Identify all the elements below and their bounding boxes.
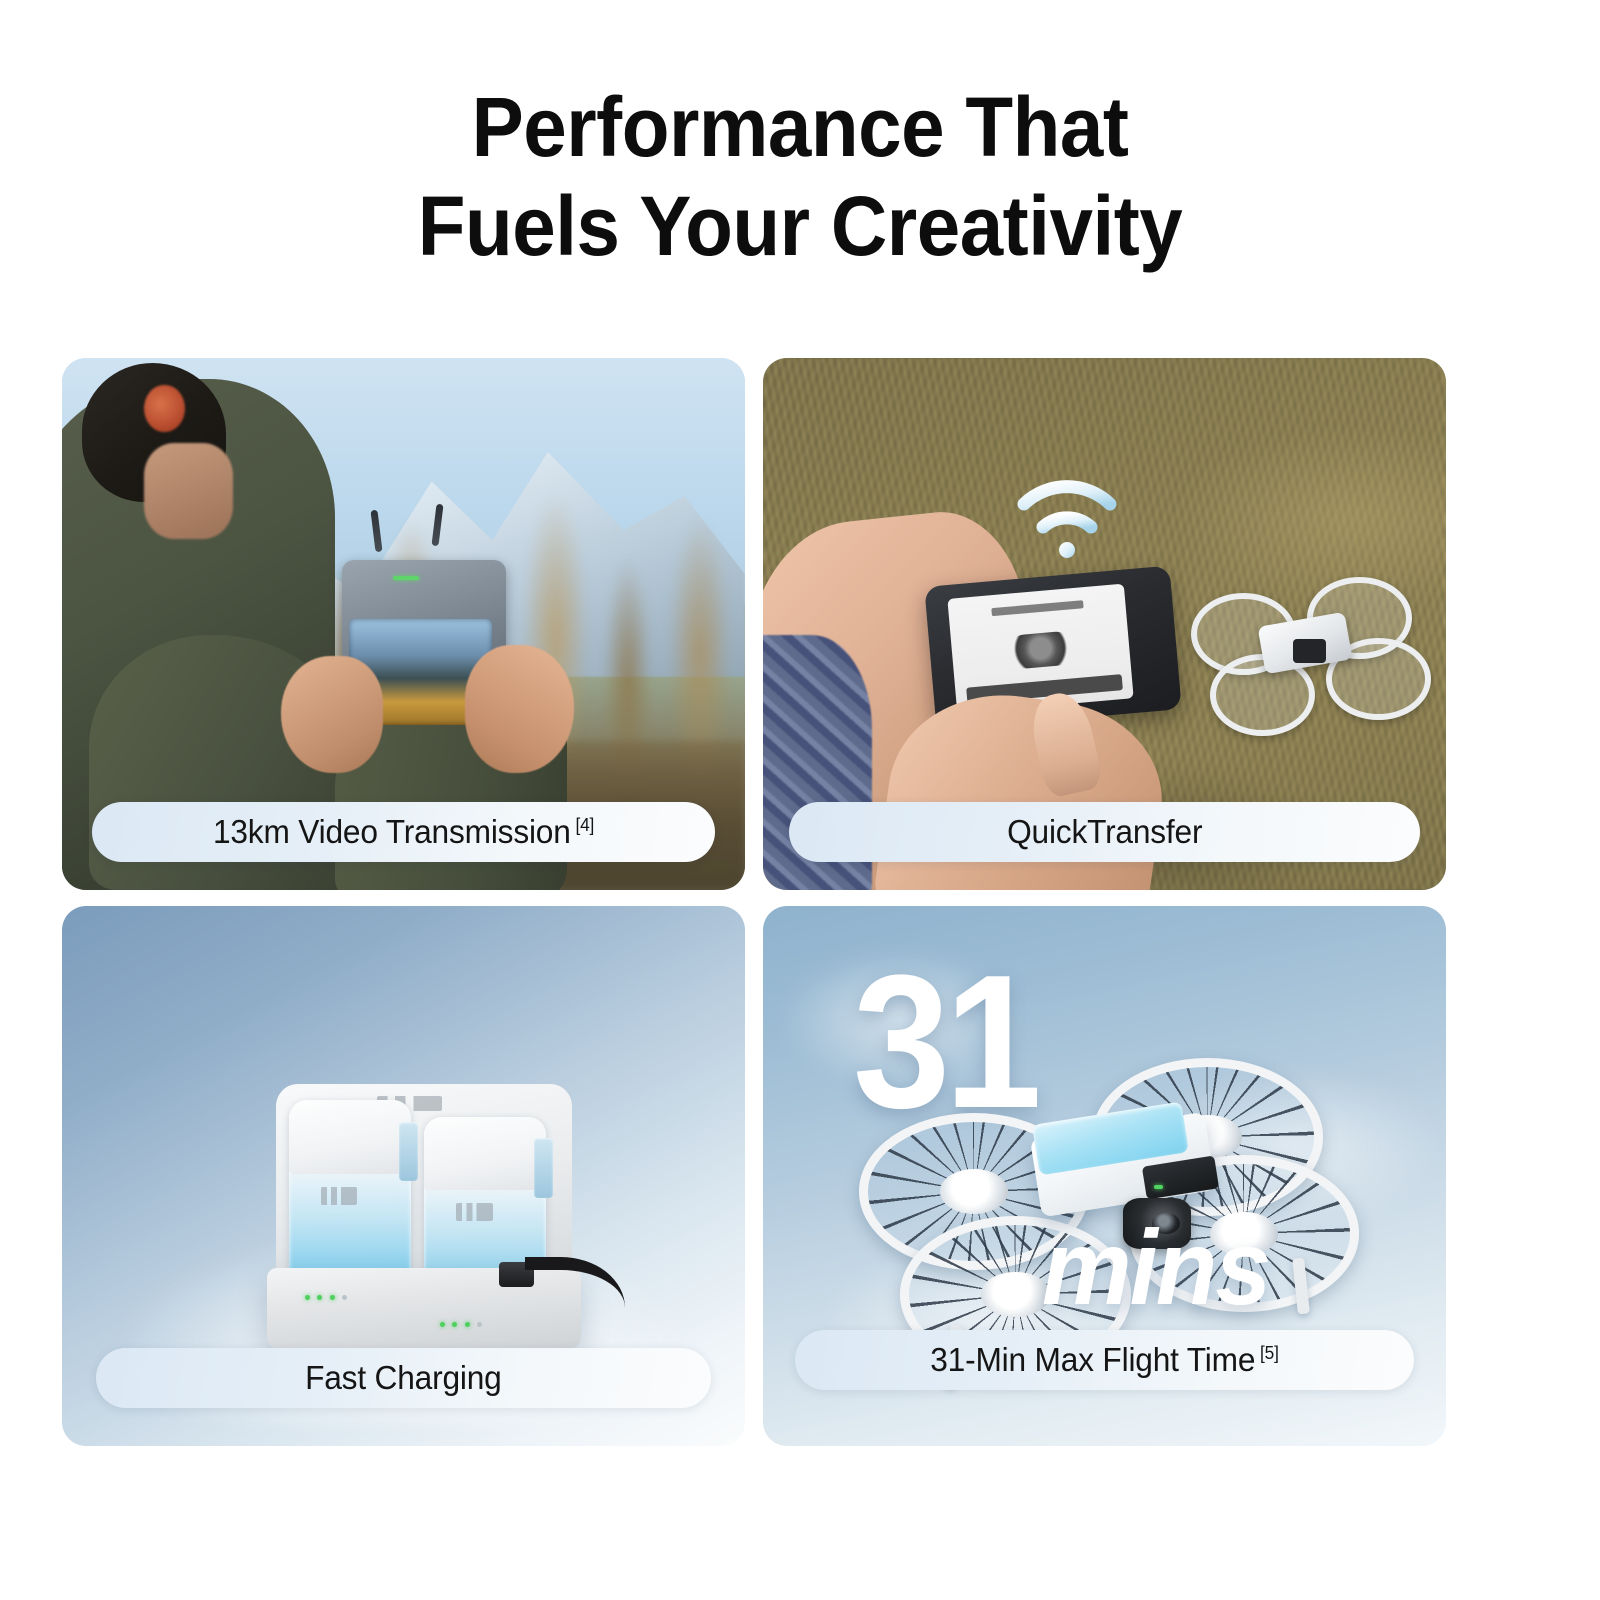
right-hand-icon bbox=[465, 645, 574, 773]
led-indicator-icon-1 bbox=[305, 1295, 310, 1300]
led-indicator-icon-3 bbox=[330, 1295, 335, 1300]
card-label-pill-quicktransfer: QuickTransfer bbox=[789, 802, 1420, 862]
phone-dialog-title bbox=[991, 600, 1083, 616]
card-label-pill-fast-charging: Fast Charging bbox=[96, 1348, 711, 1408]
wifi-icon bbox=[1012, 470, 1122, 562]
card-label-text: Fast Charging bbox=[305, 1359, 501, 1397]
feature-card-quicktransfer[interactable]: QuickTransfer bbox=[763, 358, 1446, 890]
phone-screen bbox=[948, 584, 1134, 714]
flight-time-unit-overlay: mins bbox=[1042, 1208, 1269, 1329]
propeller-hub-icon-3 bbox=[981, 1272, 1049, 1317]
brand-logo-icon-left bbox=[321, 1187, 358, 1205]
card-label-footnote: [5] bbox=[1260, 1343, 1279, 1363]
card-label-pill-flight-time: 31-Min Max Flight Time[5] bbox=[795, 1330, 1414, 1390]
card-label-text: QuickTransfer bbox=[1007, 813, 1202, 851]
left-hand-icon bbox=[281, 656, 383, 773]
feature-card-flight-time[interactable]: 31 mins 31-Min Max Flight Time[5] bbox=[763, 906, 1446, 1446]
ear-icon bbox=[144, 385, 185, 433]
phone-drone-thumbnail-icon bbox=[1011, 630, 1070, 669]
battery-latch-right bbox=[534, 1138, 553, 1197]
battery-cap-left bbox=[289, 1100, 412, 1174]
led-indicator-icon-5 bbox=[440, 1322, 445, 1327]
neck-icon bbox=[144, 443, 233, 539]
drone-icon bbox=[1186, 571, 1418, 731]
battery-cap-right bbox=[424, 1117, 547, 1191]
page-title-line-1: Performance That bbox=[56, 78, 1544, 177]
controller-led-icon bbox=[393, 576, 419, 580]
feature-card-video-transmission[interactable]: 13km Video Transmission[4] bbox=[62, 358, 745, 890]
page-title: Performance That Fuels Your Creativity bbox=[56, 78, 1544, 276]
card-label-text: 31-Min Max Flight Time[5] bbox=[930, 1341, 1278, 1379]
card-label-pill-video-transmission: 13km Video Transmission[4] bbox=[92, 802, 715, 862]
card-label-text: 13km Video Transmission[4] bbox=[213, 813, 594, 851]
propeller-hub-icon-1 bbox=[940, 1169, 1008, 1214]
feature-card-fast-charging[interactable]: Fast Charging bbox=[62, 906, 745, 1446]
battery-latch-left bbox=[399, 1122, 418, 1181]
charging-hub-icon bbox=[267, 1079, 581, 1349]
drone-camera-icon bbox=[1293, 639, 1326, 663]
card-label-footnote: [4] bbox=[575, 815, 594, 835]
brand-logo-icon-right bbox=[456, 1203, 493, 1221]
feature-card-grid: 13km Video Transmission[4] bbox=[62, 358, 1538, 1446]
page-title-line-2: Fuels Your Creativity bbox=[56, 177, 1544, 276]
